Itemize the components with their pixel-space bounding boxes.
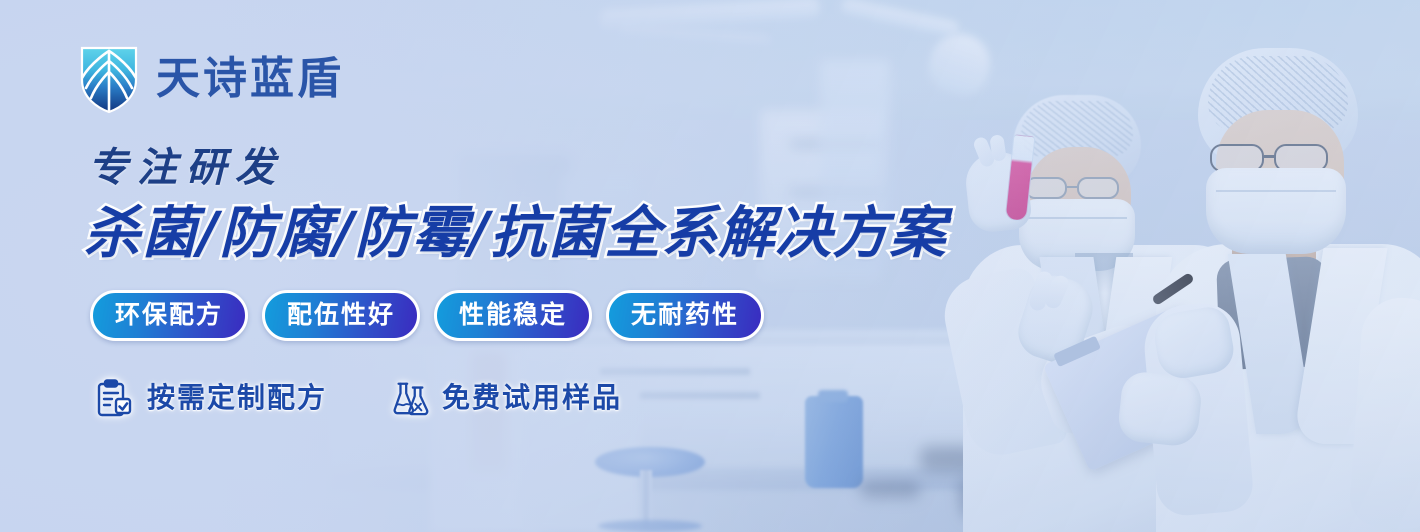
brand-logo[interactable]: 天诗蓝盾	[78, 44, 344, 114]
service-label: 免费试用样品	[442, 384, 622, 412]
feature-pill[interactable]: 无耐药性	[606, 290, 764, 341]
feature-pill[interactable]: 性能稳定	[434, 290, 592, 341]
kicker-text: 专注研发	[88, 148, 284, 188]
headline-text: 杀菌/防腐/防霉/抗菌全系解决方案	[84, 204, 946, 264]
service-label: 按需定制配方	[147, 384, 327, 412]
service-custom-formula[interactable]: 按需定制配方	[96, 378, 327, 418]
feature-pill[interactable]: 配伍性好	[262, 290, 420, 341]
banner-content: 天诗蓝盾 专注研发 杀菌/防腐/防霉/抗菌全系解决方案 环保配方 配伍性好 性能…	[0, 0, 1420, 532]
hero-banner: 天诗蓝盾 专注研发 杀菌/防腐/防霉/抗菌全系解决方案 环保配方 配伍性好 性能…	[0, 0, 1420, 532]
clipboard-check-icon	[96, 378, 134, 418]
service-free-sample[interactable]: 免费试用样品	[391, 378, 622, 418]
feature-pill[interactable]: 环保配方	[90, 290, 248, 341]
brand-name: 天诗蓝盾	[156, 57, 344, 101]
feature-pill-list: 环保配方 配伍性好 性能稳定 无耐药性	[90, 290, 764, 341]
flask-beaker-icon	[391, 378, 429, 418]
service-feature-list: 按需定制配方 免费试用样品	[96, 378, 622, 418]
shield-logo-icon	[78, 44, 140, 114]
